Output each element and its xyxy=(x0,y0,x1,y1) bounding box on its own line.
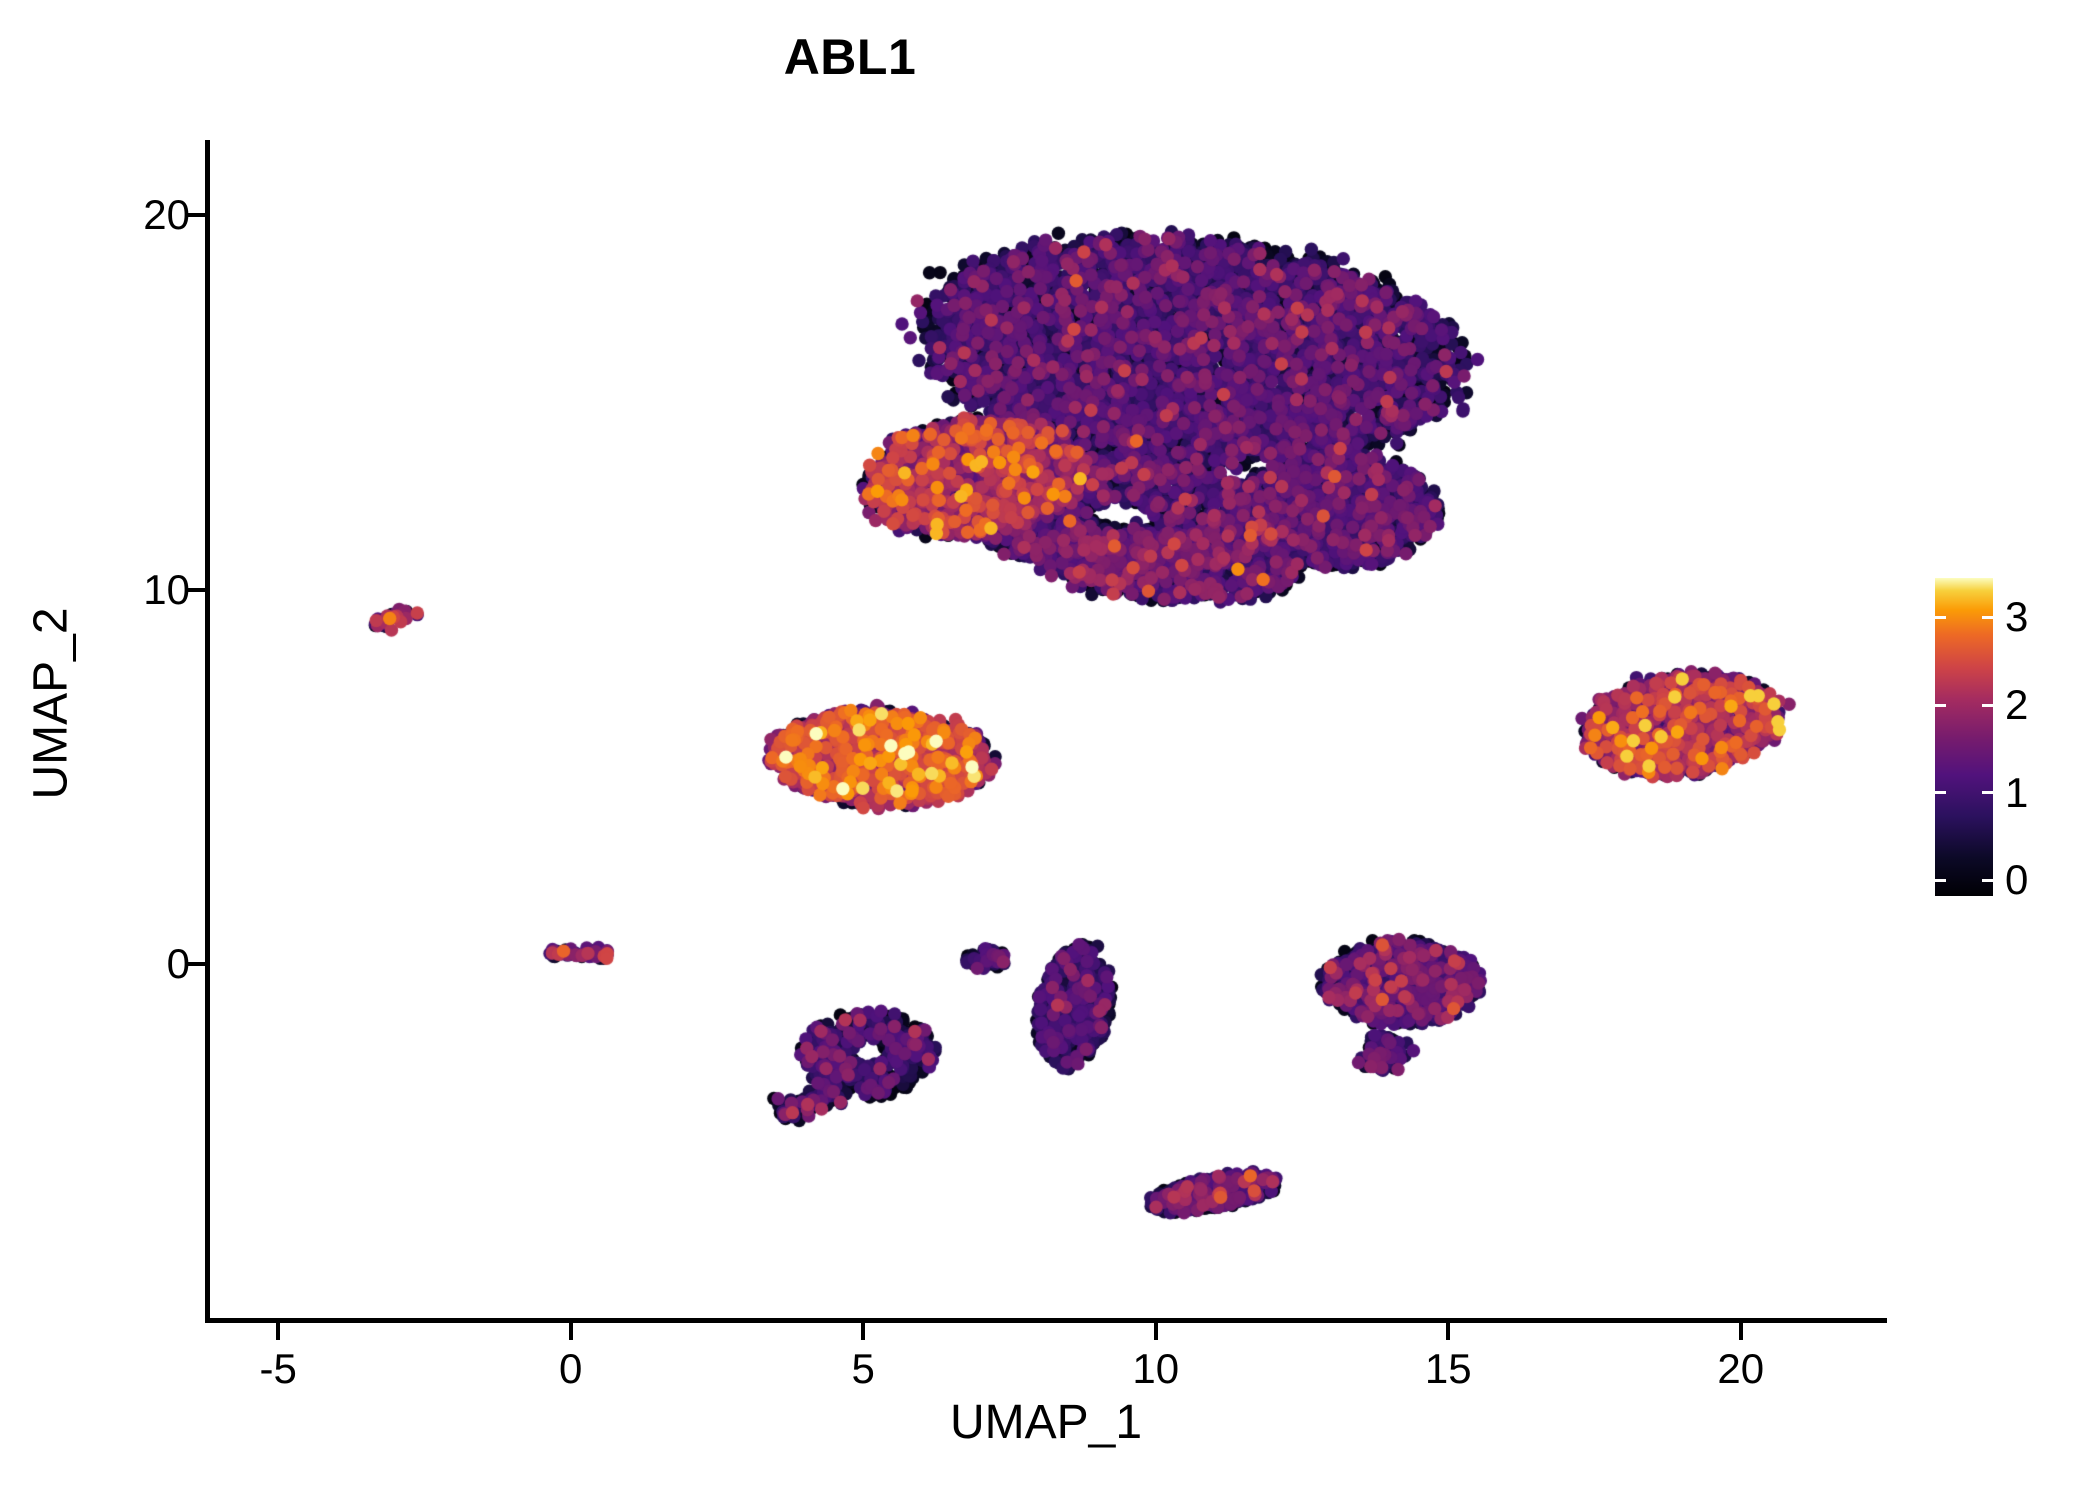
x-tick-label: 5 xyxy=(852,1345,875,1393)
x-tick-label: 15 xyxy=(1425,1345,1472,1393)
page-title: ABL1 xyxy=(0,28,1700,86)
colorbar-tick-mark xyxy=(1935,704,1946,707)
colorbar-tick-mark xyxy=(1982,879,1993,882)
colorbar-tick-mark xyxy=(1982,616,1993,619)
colorbar-tick-mark xyxy=(1982,704,1993,707)
colorbar-tick-mark xyxy=(1935,616,1946,619)
x-tick-mark xyxy=(1739,1323,1743,1340)
y-tick-label: 0 xyxy=(167,940,190,988)
scatter-plot-canvas xyxy=(0,0,2100,1500)
y-tick-label: 20 xyxy=(143,191,190,239)
colorbar-tick-label: 1 xyxy=(2005,769,2028,817)
x-tick-mark xyxy=(569,1323,573,1340)
colorbar-tick-label: 3 xyxy=(2005,593,2028,641)
x-tick-mark xyxy=(1154,1323,1158,1340)
x-tick-mark xyxy=(276,1323,280,1340)
colorbar-gradient xyxy=(1935,578,1993,896)
y-axis-title: UMAP_2 xyxy=(24,113,79,1295)
colorbar-tick-label: 2 xyxy=(2005,681,2028,729)
x-axis-line xyxy=(205,1318,1887,1323)
umap-feature-plot: ABL1 UMAP_1 UMAP_2 01020-505101520 0123 xyxy=(0,0,2100,1500)
x-tick-mark xyxy=(1446,1323,1450,1340)
colorbar-tick-mark xyxy=(1935,791,1946,794)
colorbar-tick-label: 0 xyxy=(2005,856,2028,904)
x-tick-label: -5 xyxy=(260,1345,297,1393)
y-tick-mark xyxy=(188,213,205,217)
y-tick-mark xyxy=(188,588,205,592)
colorbar-legend: 0123 xyxy=(1935,578,1993,896)
y-tick-mark xyxy=(188,962,205,966)
x-tick-label: 20 xyxy=(1717,1345,1764,1393)
x-tick-label: 0 xyxy=(559,1345,582,1393)
colorbar-tick-mark xyxy=(1935,879,1946,882)
colorbar-tick-mark xyxy=(1982,791,1993,794)
y-axis-line xyxy=(205,140,210,1322)
x-axis-title: UMAP_1 xyxy=(205,1395,1887,1450)
x-tick-mark xyxy=(861,1323,865,1340)
y-tick-label: 10 xyxy=(143,566,190,614)
x-tick-label: 10 xyxy=(1132,1345,1179,1393)
